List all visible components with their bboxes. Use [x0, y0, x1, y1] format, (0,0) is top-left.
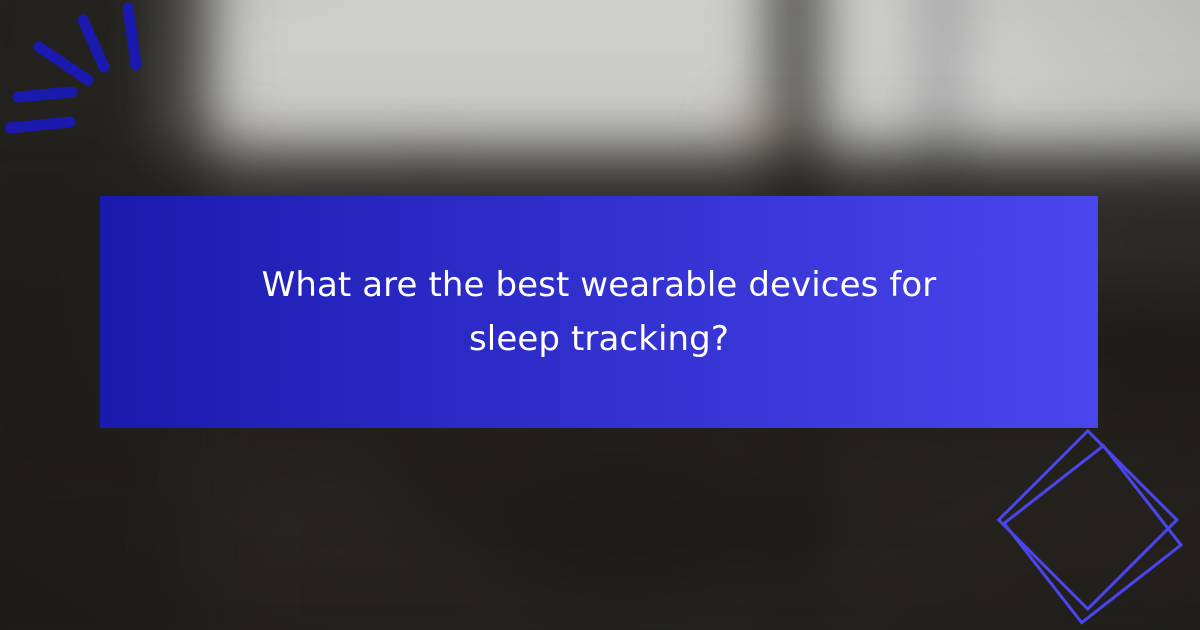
headline-banner: What are the best wearable devices for s…: [100, 196, 1098, 428]
page-title: What are the best wearable devices for s…: [220, 258, 978, 367]
share-card-canvas: What are the best wearable devices for s…: [0, 0, 1200, 630]
